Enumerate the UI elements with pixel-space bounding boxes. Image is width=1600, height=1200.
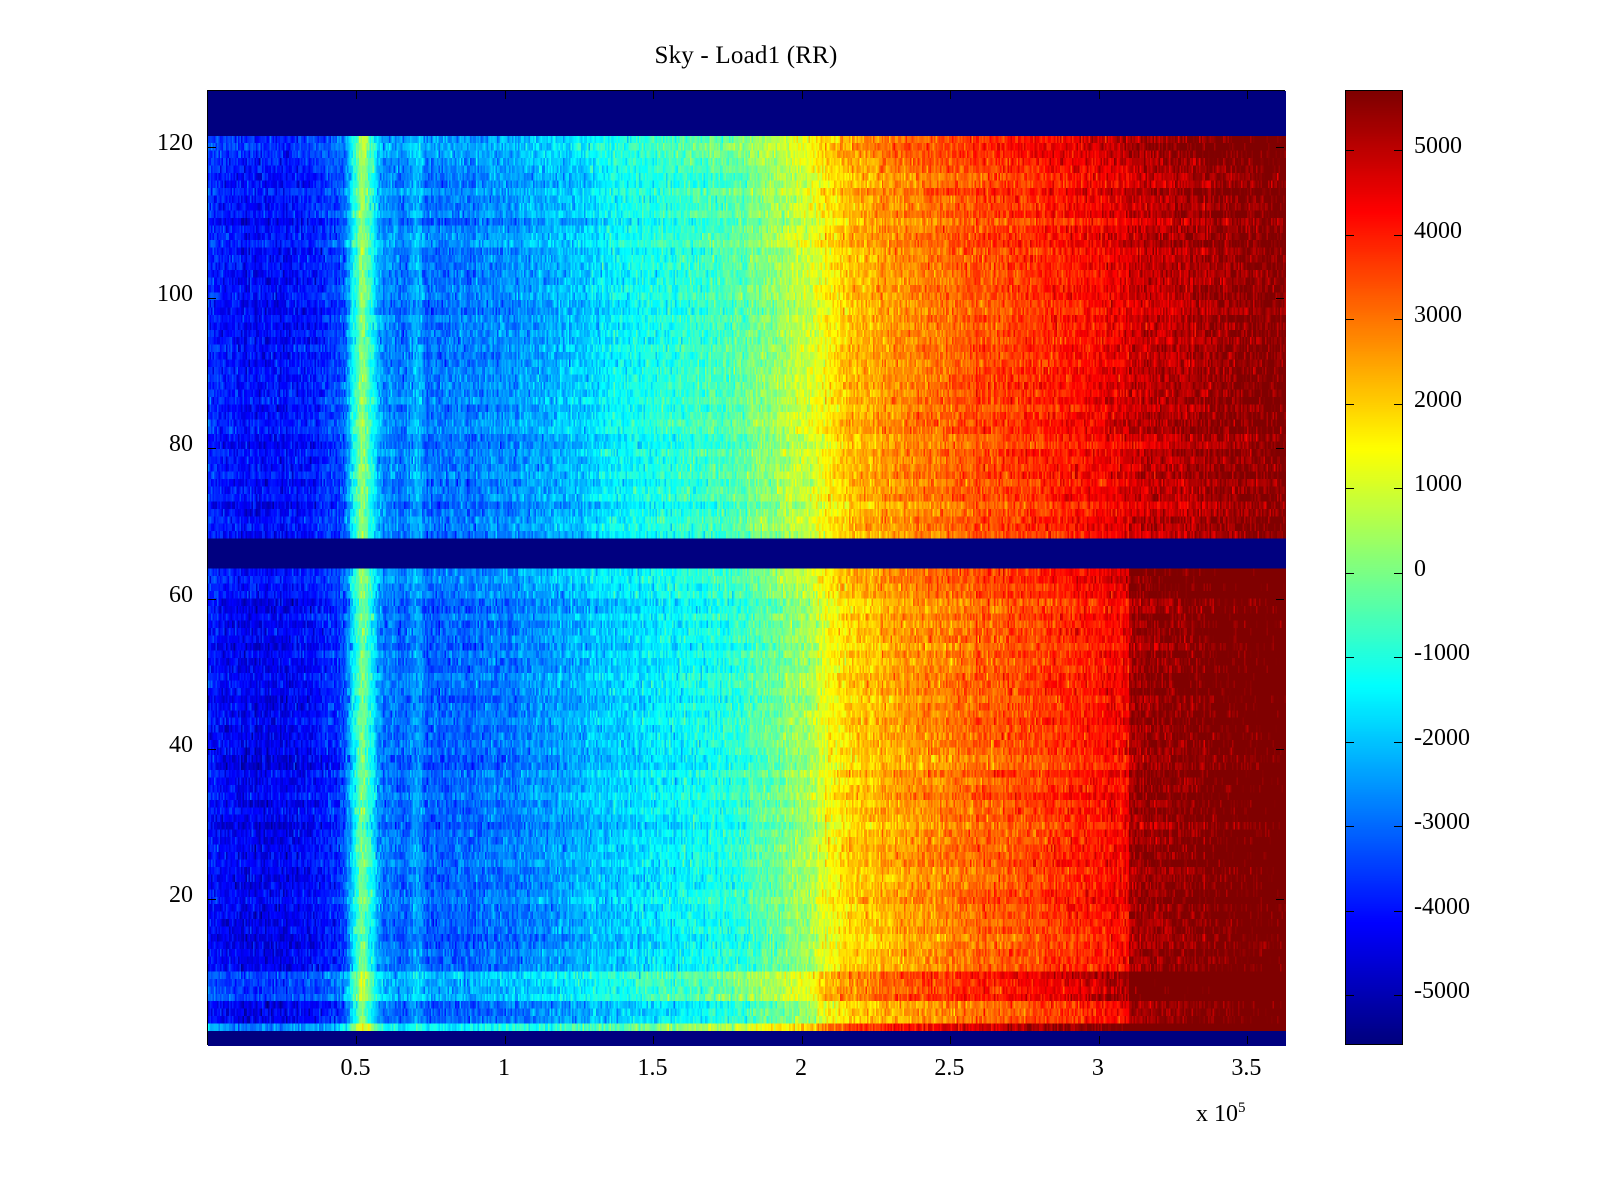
x-exponent-prefix: x 10 [1196, 1101, 1238, 1127]
y-axis-ticklabel: 40 [103, 732, 193, 759]
colorbar-tick [1346, 573, 1354, 574]
y-axis-ticklabel: 20 [103, 882, 193, 909]
y-axis-tick [1276, 899, 1284, 900]
x-axis-tick [356, 1036, 357, 1044]
y-axis-tick [208, 749, 216, 750]
x-axis-tick [653, 1036, 654, 1044]
colorbar-tick [1394, 319, 1402, 320]
y-axis-ticklabel: 80 [103, 431, 193, 458]
page-title: Sky - Load1 (RR) [207, 42, 1285, 70]
x-axis-exponent: x 105 [1196, 1100, 1246, 1128]
colorbar-tick [1346, 319, 1354, 320]
x-axis-tick [356, 91, 357, 99]
colorbar-tick [1394, 742, 1402, 743]
x-axis-tick [505, 91, 506, 99]
colorbar-tick [1346, 150, 1354, 151]
colorbar-ticklabel: 5000 [1414, 133, 1462, 160]
x-axis-tick [1247, 91, 1248, 99]
colorbar-tick [1346, 742, 1354, 743]
colorbar-tick [1346, 995, 1354, 996]
x-axis-ticklabel: 2.5 [889, 1055, 1009, 1082]
colorbar-ticklabel: -3000 [1414, 809, 1470, 836]
y-axis-tick [208, 147, 216, 148]
colorbar[interactable] [1345, 90, 1403, 1045]
y-axis-tick [1276, 298, 1284, 299]
x-axis-tick [653, 91, 654, 99]
matlab-figure: Sky - Load1 (RR) 20406080100120 0.511.52… [0, 0, 1600, 1200]
colorbar-tick [1346, 911, 1354, 912]
colorbar-tick [1394, 488, 1402, 489]
y-axis-tick [208, 599, 216, 600]
colorbar-ticklabel: 2000 [1414, 387, 1462, 414]
x-axis-tick [1247, 1036, 1248, 1044]
colorbar-tick [1394, 404, 1402, 405]
x-exponent-power: 5 [1238, 1100, 1246, 1116]
x-axis-tick [802, 1036, 803, 1044]
x-axis-tick [950, 91, 951, 99]
x-axis-tick [802, 91, 803, 99]
y-axis-tick [1276, 448, 1284, 449]
y-axis-tick [208, 899, 216, 900]
colorbar-tick [1394, 235, 1402, 236]
y-axis-tick [208, 298, 216, 299]
colorbar-tick [1394, 657, 1402, 658]
x-axis-tick [950, 1036, 951, 1044]
colorbar-tick [1346, 657, 1354, 658]
x-axis-ticklabel: 1.5 [592, 1055, 712, 1082]
colorbar-tick [1346, 488, 1354, 489]
heatmap-image [208, 91, 1286, 1046]
x-axis-ticklabel: 1 [444, 1055, 564, 1082]
colorbar-tick [1346, 826, 1354, 827]
colorbar-ticklabel: 1000 [1414, 471, 1462, 498]
colorbar-tick [1394, 150, 1402, 151]
x-axis-ticklabel: 2 [741, 1055, 861, 1082]
heatmap-axes[interactable] [207, 90, 1285, 1045]
x-axis-tick [505, 1036, 506, 1044]
colorbar-ticklabel: -2000 [1414, 725, 1470, 752]
y-axis-ticklabel: 100 [103, 281, 193, 308]
x-axis-tick [1099, 91, 1100, 99]
colorbar-tick [1394, 911, 1402, 912]
colorbar-tick [1346, 235, 1354, 236]
y-axis-tick [208, 448, 216, 449]
colorbar-tick [1346, 404, 1354, 405]
x-axis-ticklabel: 3.5 [1186, 1055, 1306, 1082]
colorbar-ticklabel: -1000 [1414, 640, 1470, 667]
y-axis-tick [1276, 599, 1284, 600]
colorbar-ticklabel: -5000 [1414, 978, 1470, 1005]
x-axis-ticklabel: 3 [1038, 1055, 1158, 1082]
colorbar-tick [1394, 995, 1402, 996]
colorbar-tick [1394, 573, 1402, 574]
colorbar-ticklabel: 4000 [1414, 218, 1462, 245]
colorbar-tick [1394, 826, 1402, 827]
colorbar-ticklabel: 0 [1414, 556, 1426, 583]
x-axis-tick [1099, 1036, 1100, 1044]
colorbar-ticklabel: -4000 [1414, 894, 1470, 921]
colorbar-ticklabel: 3000 [1414, 302, 1462, 329]
y-axis-ticklabel: 120 [103, 130, 193, 157]
y-axis-tick [1276, 147, 1284, 148]
y-axis-ticklabel: 60 [103, 582, 193, 609]
x-axis-ticklabel: 0.5 [295, 1055, 415, 1082]
y-axis-tick [1276, 749, 1284, 750]
